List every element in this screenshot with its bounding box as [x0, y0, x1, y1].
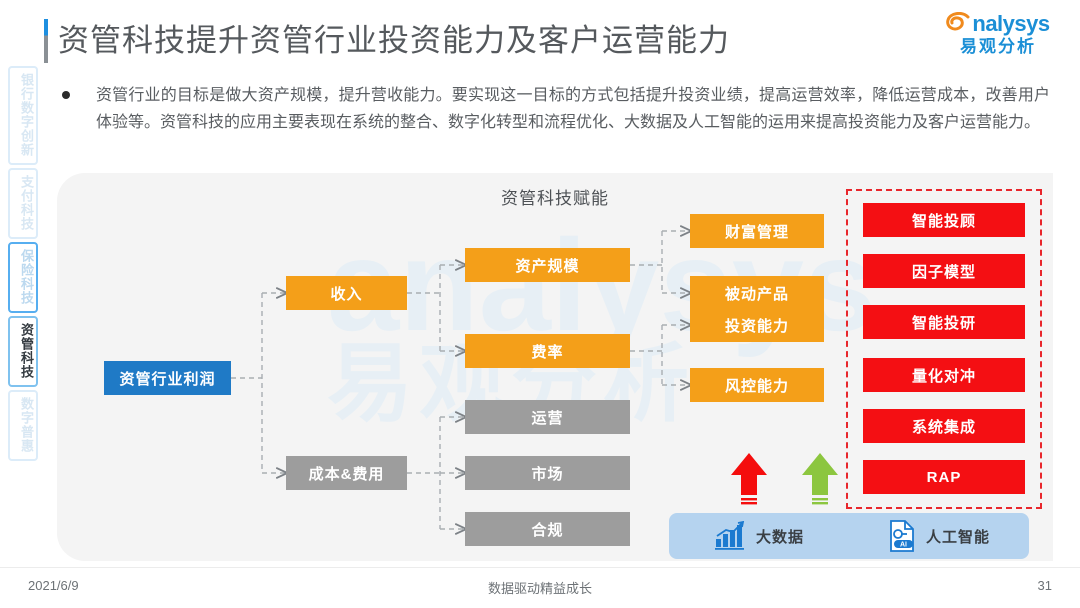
node-market[interactable]: 市场 [465, 456, 630, 490]
page-title: 资管科技提升资管行业投资能力及客户运营能力 [58, 19, 730, 63]
capability-label-ai: 人工智能 [926, 526, 990, 547]
node-risk-control-capability[interactable]: 风控能力 [690, 368, 824, 402]
node-operations[interactable]: 运营 [465, 400, 630, 434]
footer-page-number: 31 [1038, 578, 1052, 593]
bullet-paragraph-text: 资管行业的目标是做大资产规模，提升营收能力。要实现这一目标的方式包括提升投资业绩… [96, 82, 1050, 136]
sidebar-item-asset-management-tech[interactable]: 资管科技 [8, 316, 38, 387]
node-rap[interactable]: RAP [863, 460, 1025, 494]
node-smart-advisory[interactable]: 智能投顾 [863, 203, 1025, 237]
node-asset-management-profit[interactable]: 资管行业利润 [104, 361, 231, 395]
bullet-dot-icon [62, 91, 70, 99]
node-asset-scale[interactable]: 资产规模 [465, 248, 630, 282]
node-factor-model[interactable]: 因子模型 [863, 254, 1025, 288]
svg-text:AI: AI [900, 541, 907, 548]
node-revenue[interactable]: 收入 [286, 276, 407, 310]
node-compliance[interactable]: 合规 [465, 512, 630, 546]
sidebar-item-insurance-tech[interactable]: 保险科技 [8, 242, 38, 313]
analysys-logo: nalysys 易观分析 [934, 12, 1062, 57]
capability-big-data[interactable]: 大数据 [669, 521, 849, 551]
green-up-arrow-icon [800, 451, 840, 509]
node-passive-products[interactable]: 被动产品 [690, 276, 824, 310]
node-fee-rate[interactable]: 费率 [465, 334, 630, 368]
footer: 2021/6/9 数据驱动精益成长 31 [0, 567, 1080, 608]
bar-chart-icon [714, 521, 746, 551]
logo-text: nalysys [972, 12, 1049, 36]
logo-wordmark: nalysys [934, 12, 1062, 36]
logo-subtitle: 易观分析 [934, 37, 1062, 57]
node-smart-research[interactable]: 智能投研 [863, 305, 1025, 339]
node-wealth-management[interactable]: 财富管理 [690, 214, 824, 248]
sidebar-item-payment-tech[interactable]: 支付科技 [8, 168, 38, 239]
title-accent-bar [44, 19, 48, 63]
bullet-paragraph-row: 资管行业的目标是做大资产规模，提升营收能力。要实现这一目标的方式包括提升投资业绩… [62, 82, 1050, 136]
node-investment-capability[interactable]: 投资能力 [690, 308, 824, 342]
capability-ai[interactable]: AI 人工智能 [849, 520, 1029, 552]
sidebar-item-digital-inclusive-finance[interactable]: 数字普惠 [8, 390, 38, 461]
footer-center-text: 数据驱动精益成长 [0, 578, 1080, 597]
ai-document-icon: AI [888, 520, 916, 552]
node-system-integration[interactable]: 系统集成 [863, 409, 1025, 443]
capability-bar: 大数据 AI 人工智能 [669, 513, 1029, 559]
node-quantitative-hedging[interactable]: 量化对冲 [863, 358, 1025, 392]
diagram-panel: analysys 易观分析 资管科技赋能 [57, 173, 1053, 561]
logo-swoosh-icon [946, 12, 972, 36]
red-up-arrow-icon [729, 451, 769, 509]
sidebar-tab-rail: 银行数字创新 支付科技 保险科技 资管科技 数字普惠 [6, 66, 40, 461]
sidebar-item-bank-digital-innovation[interactable]: 银行数字创新 [8, 66, 38, 165]
capability-label-big-data: 大数据 [756, 526, 804, 547]
node-cost-and-expense[interactable]: 成本&费用 [286, 456, 407, 490]
